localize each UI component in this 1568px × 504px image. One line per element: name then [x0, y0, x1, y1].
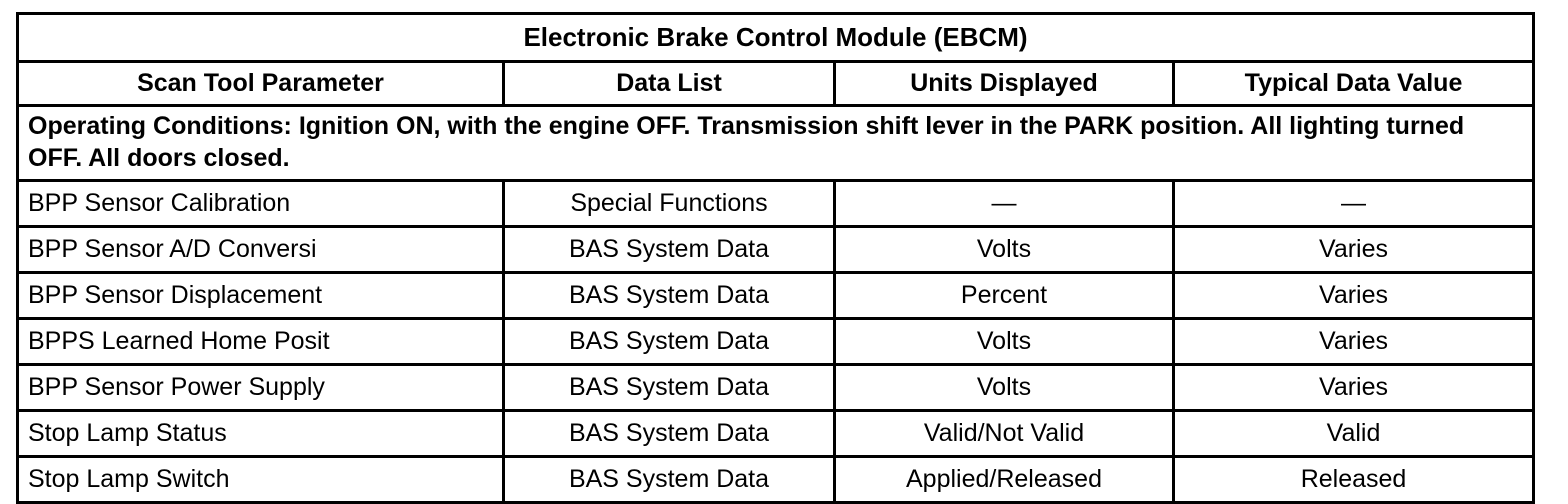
- table-header-row: Scan Tool Parameter Data List Units Disp…: [18, 62, 1534, 106]
- operating-conditions-text: Operating Conditions: Ignition ON, with …: [19, 107, 1532, 179]
- cell-typical-value: Varies: [1174, 319, 1534, 365]
- cell-data-list: Special Functions: [504, 181, 835, 227]
- cell-parameter: BPP Sensor Power Supply: [18, 365, 504, 411]
- table-title-cell: Electronic Brake Control Module (EBCM): [18, 14, 1534, 62]
- cell-text: BPPS Learned Home Posit: [19, 320, 502, 363]
- cell-text: BAS System Data: [505, 366, 833, 409]
- cell-text: BPP Sensor Calibration: [19, 182, 502, 225]
- cell-text: Stop Lamp Status: [19, 412, 502, 455]
- cell-text: BAS System Data: [505, 274, 833, 317]
- cell-data-list: BAS System Data: [504, 273, 835, 319]
- table-row: BPP Sensor Power Supply BAS System Data …: [18, 365, 1534, 411]
- cell-data-list: BAS System Data: [504, 227, 835, 273]
- cell-units: —: [835, 181, 1174, 227]
- cell-text: BPP Sensor Power Supply: [19, 366, 502, 409]
- cell-typical-value: —: [1174, 181, 1534, 227]
- table-body: Electronic Brake Control Module (EBCM) S…: [18, 14, 1534, 503]
- cell-data-list: BAS System Data: [504, 365, 835, 411]
- cell-data-list: BAS System Data: [504, 411, 835, 457]
- cell-text: Valid/Not Valid: [836, 412, 1172, 455]
- operating-conditions-cell: Operating Conditions: Ignition ON, with …: [18, 106, 1534, 181]
- cell-parameter: BPP Sensor Displacement: [18, 273, 504, 319]
- column-header-label: Data List: [505, 63, 833, 104]
- cell-parameter: Stop Lamp Status: [18, 411, 504, 457]
- cell-text: Percent: [836, 274, 1172, 317]
- spec-table-wrapper: Electronic Brake Control Module (EBCM) S…: [16, 12, 1532, 504]
- cell-text: Varies: [1175, 366, 1532, 409]
- cell-text: Valid: [1175, 412, 1532, 455]
- cell-units: Volts: [835, 227, 1174, 273]
- cell-typical-value: Varies: [1174, 365, 1534, 411]
- column-header-typical-data-value: Typical Data Value: [1174, 62, 1534, 106]
- cell-text: BPP Sensor Displacement: [19, 274, 502, 317]
- cell-parameter: BPP Sensor A/D Conversi: [18, 227, 504, 273]
- cell-text: Volts: [836, 228, 1172, 271]
- table-title-row: Electronic Brake Control Module (EBCM): [18, 14, 1534, 62]
- table-title: Electronic Brake Control Module (EBCM): [19, 15, 1532, 60]
- cell-text: BPP Sensor A/D Conversi: [19, 228, 502, 271]
- cell-units: Volts: [835, 319, 1174, 365]
- cell-text: BAS System Data: [505, 228, 833, 271]
- cell-text: BAS System Data: [505, 412, 833, 455]
- operating-conditions-row: Operating Conditions: Ignition ON, with …: [18, 106, 1534, 181]
- cell-parameter: BPPS Learned Home Posit: [18, 319, 504, 365]
- cell-text: Volts: [836, 366, 1172, 409]
- column-header-scan-tool-parameter: Scan Tool Parameter: [18, 62, 504, 106]
- table-row: Stop Lamp Status BAS System Data Valid/N…: [18, 411, 1534, 457]
- cell-text: Special Functions: [505, 182, 833, 225]
- cell-units: Valid/Not Valid: [835, 411, 1174, 457]
- table-row: BPP Sensor A/D Conversi BAS System Data …: [18, 227, 1534, 273]
- cell-text: Volts: [836, 320, 1172, 363]
- column-header-label: Typical Data Value: [1175, 63, 1532, 104]
- page-root: Electronic Brake Control Module (EBCM) S…: [0, 0, 1568, 480]
- cell-text: Varies: [1175, 228, 1532, 271]
- column-header-units-displayed: Units Displayed: [835, 62, 1174, 106]
- cell-text: Varies: [1175, 320, 1532, 363]
- table-row: BPP Sensor Displacement BAS System Data …: [18, 273, 1534, 319]
- column-header-label: Scan Tool Parameter: [19, 63, 502, 104]
- cell-text: Varies: [1175, 274, 1532, 317]
- cell-typical-value: Varies: [1174, 227, 1534, 273]
- cell-text: BAS System Data: [505, 320, 833, 363]
- cell-text: —: [1175, 182, 1532, 225]
- cell-typical-value: Valid: [1174, 411, 1534, 457]
- cell-parameter: BPP Sensor Calibration: [18, 181, 504, 227]
- ebcm-scan-tool-parameter-table: Electronic Brake Control Module (EBCM) S…: [16, 12, 1535, 504]
- column-header-label: Units Displayed: [836, 63, 1172, 104]
- cell-units: Percent: [835, 273, 1174, 319]
- column-header-data-list: Data List: [504, 62, 835, 106]
- table-row: BPPS Learned Home Posit BAS System Data …: [18, 319, 1534, 365]
- cell-data-list: BAS System Data: [504, 319, 835, 365]
- cell-typical-value: Varies: [1174, 273, 1534, 319]
- cell-units: Volts: [835, 365, 1174, 411]
- cell-text: —: [836, 182, 1172, 225]
- table-row: BPP Sensor Calibration Special Functions…: [18, 181, 1534, 227]
